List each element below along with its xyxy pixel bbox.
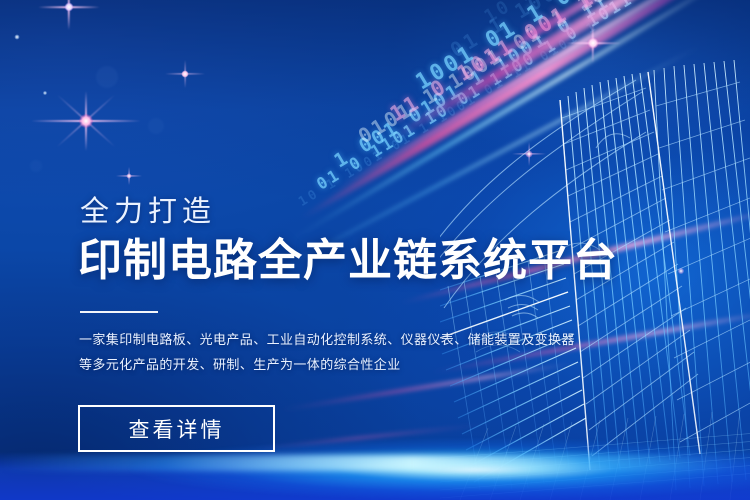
hero-eyebrow: 全力打造 bbox=[80, 198, 216, 227]
hero-subtitle: 一家集印制电路板、光电产品、工业自动化控制系统、仪器仪表、储能装置及变换器 等多… bbox=[79, 327, 609, 377]
view-details-button[interactable]: 查看详情 bbox=[78, 405, 275, 452]
hero-headline: 印制电路全产业链系统平台 bbox=[78, 239, 618, 283]
hero-subtitle-line-1: 一家集印制电路板、光电产品、工业自动化控制系统、仪器仪表、储能装置及变换器 bbox=[79, 327, 609, 352]
hero-subtitle-line-2: 等多元化产品的开发、研制、生产为一体的综合性企业 bbox=[79, 352, 609, 377]
hero-content: 全力打造 印制电路全产业链系统平台 一家集印制电路板、光电产品、工业自动化控制系… bbox=[0, 0, 750, 500]
view-details-button-label: 查看详情 bbox=[129, 414, 225, 444]
hero-divider bbox=[80, 311, 158, 313]
hero-banner: 10 1 1001 01 1 1001 01 11 0101 1 01 0 11… bbox=[0, 0, 750, 500]
